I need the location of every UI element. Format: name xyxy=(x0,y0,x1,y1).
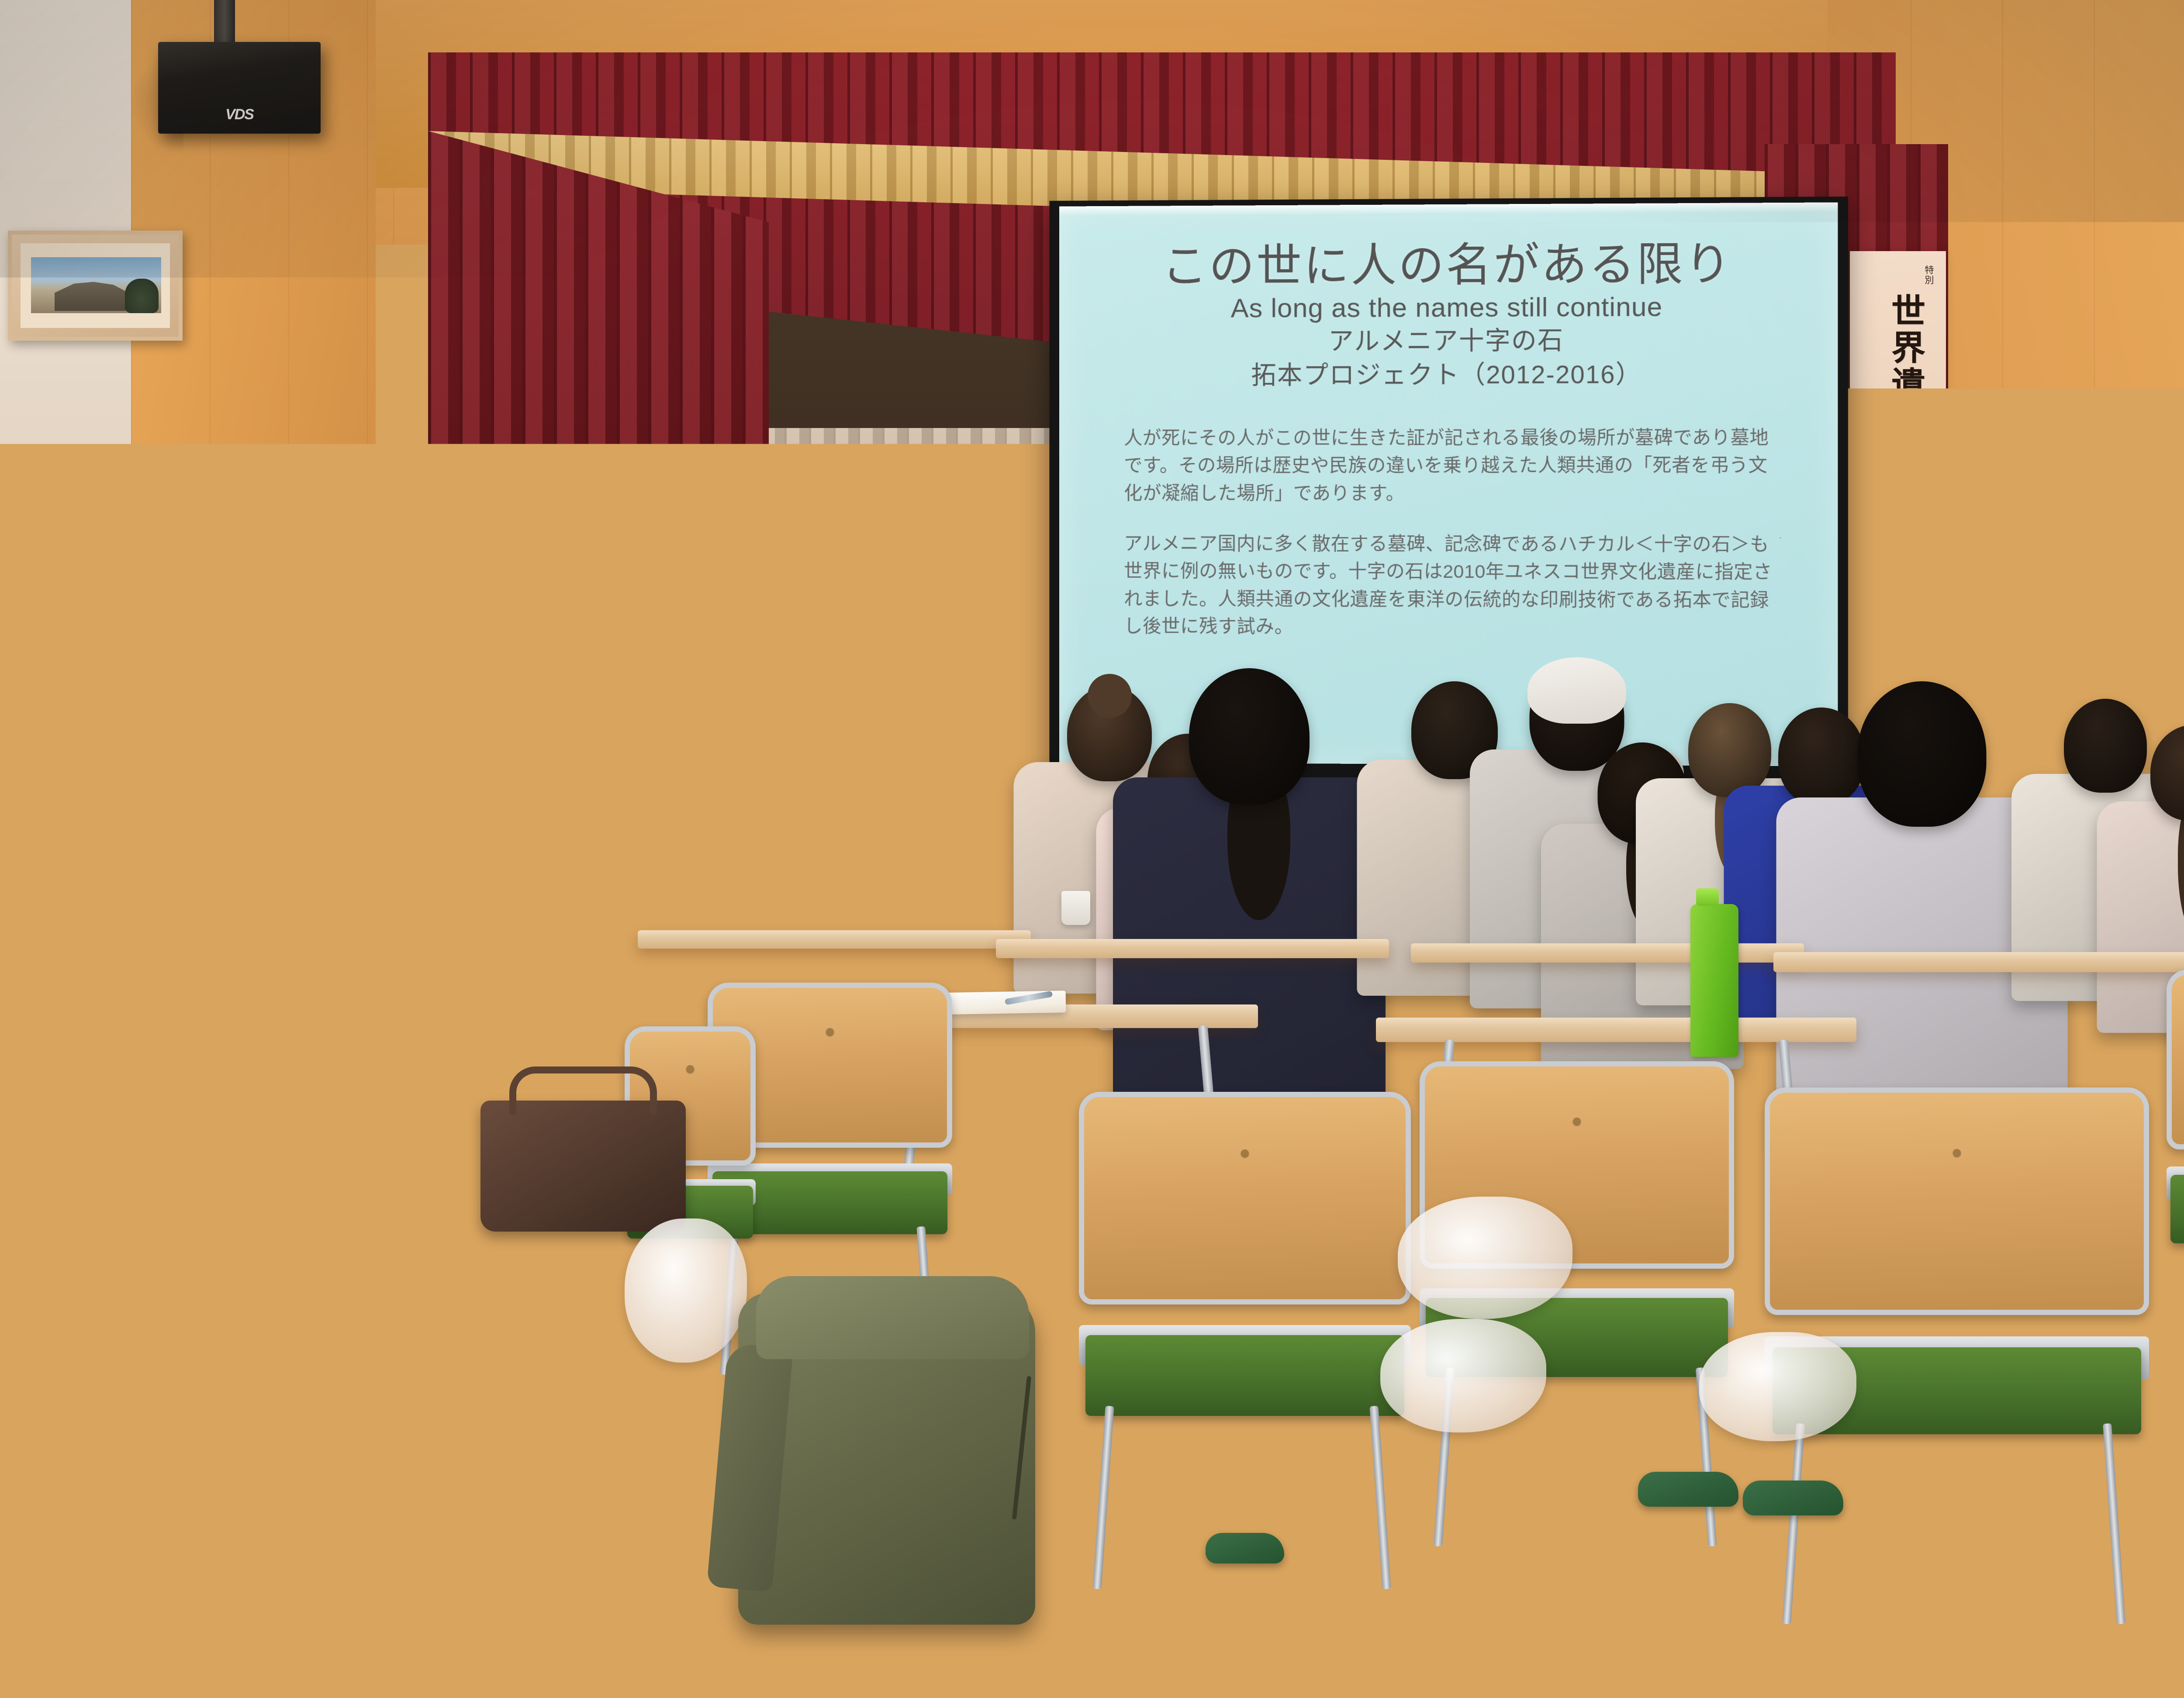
handbag[interactable] xyxy=(480,1101,686,1232)
calligraphy-banner: 特別 世界遺産を "摺る" ー十字の石の拓本とアルメニアの旅ー xyxy=(1837,251,1946,714)
chair-back xyxy=(1765,1087,2149,1315)
chair-far-right[interactable] xyxy=(2167,970,2184,1398)
chair-front-center[interactable] xyxy=(1079,1092,1411,1598)
backpack-flap xyxy=(756,1276,1030,1359)
microphone-led-icon xyxy=(262,696,269,703)
audience-member-head xyxy=(1858,681,1987,827)
desk-front-right xyxy=(1376,1018,1856,1042)
chair-back xyxy=(2167,970,2184,1149)
plastic-bag-center-lower[interactable] xyxy=(1380,1319,1546,1432)
slide-title: この世に人の名がある限り xyxy=(1095,239,1801,291)
photo-building xyxy=(55,282,130,311)
handbag-strap xyxy=(509,1066,657,1115)
sandal-left xyxy=(1206,1533,1284,1563)
banner-main-text: 世界遺産を "摺る" xyxy=(1888,293,1923,604)
audience-member xyxy=(1113,668,1386,1134)
slide-subtitle-japanese-2: 拓本プロジェクト（2012-2016） xyxy=(1095,357,1801,393)
handbag-right[interactable] xyxy=(1992,1389,2136,1502)
presenter-shoe-shadow xyxy=(188,1135,288,1167)
chair-leg-2 xyxy=(1369,1406,1391,1589)
tea-bottle-2 xyxy=(1690,904,1738,1057)
chair-leg-1 xyxy=(1092,1406,1114,1589)
audience-member-torso xyxy=(729,747,958,1024)
plastic-bag-center[interactable] xyxy=(1398,1197,1572,1319)
audience-hair-bun xyxy=(586,639,629,682)
desk-row2-left xyxy=(638,930,1031,949)
tea-bottle-cap-icon xyxy=(460,1032,483,1050)
baseball-cap-icon xyxy=(1527,657,1626,724)
plastic-bag-left[interactable] xyxy=(625,1218,747,1363)
slide-subtitle-english: As long as the names still continue xyxy=(1095,291,1801,324)
audience-member-head xyxy=(792,655,894,770)
chair-leg-1 xyxy=(1782,1423,1805,1624)
sandal-far-right xyxy=(1743,1481,1843,1515)
backpack-cord xyxy=(1012,1376,1031,1519)
presenter-belt xyxy=(79,948,263,971)
slide-body: 人が死にその人がこの世に生きた証が記される最後の場所が墓碑であり墓地です。その場… xyxy=(1124,424,1776,642)
presenter-hair xyxy=(106,603,237,729)
plastic-bag-right[interactable] xyxy=(1699,1332,1856,1441)
desk-row3-far-right xyxy=(1773,952,2184,972)
picture-photo xyxy=(31,257,161,313)
slide-subtitle-japanese-1: アルメニア十字の石 xyxy=(1095,323,1801,359)
speaker-brand-label: VDS xyxy=(225,106,253,123)
banner-small-heading: 特別 xyxy=(1922,265,1935,285)
photo-tree xyxy=(125,279,159,313)
sandal-right xyxy=(1638,1472,1738,1507)
presenter-hand xyxy=(262,712,308,763)
banner-side-text: ー十字の石の拓本とアルメニアの旅ー xyxy=(1859,395,1870,544)
lecture-hall-scene: VDS 特別 世界遺産を "摺る" ー十字の石の拓本とアルメニアの旅ー この世に… xyxy=(0,0,2184,1698)
framed-picture xyxy=(8,231,183,341)
chair-seat xyxy=(2170,1175,2184,1243)
slide-paragraph-2: アルメニア国内に多く散在する墓碑、記念碑であるハチカル＜十字の石＞も世界に例の無… xyxy=(1124,530,1776,642)
tea-bottle-2-cap-icon xyxy=(1696,888,1719,906)
chair-seat xyxy=(1085,1335,1404,1416)
desk-row2-right xyxy=(996,939,1389,958)
slide-paragraph-1: 人が死にその人がこの世に生きた証が記される最後の場所が墓碑であり墓地です。その場… xyxy=(1124,424,1776,508)
backpack[interactable] xyxy=(738,1293,1035,1625)
presenter xyxy=(57,603,415,1079)
chair-back xyxy=(1079,1092,1411,1305)
paper-cup xyxy=(1061,891,1090,925)
wall-speaker-icon: VDS xyxy=(158,42,321,134)
desk-row3-right xyxy=(1411,943,1804,963)
audience-member-head xyxy=(1189,668,1310,804)
